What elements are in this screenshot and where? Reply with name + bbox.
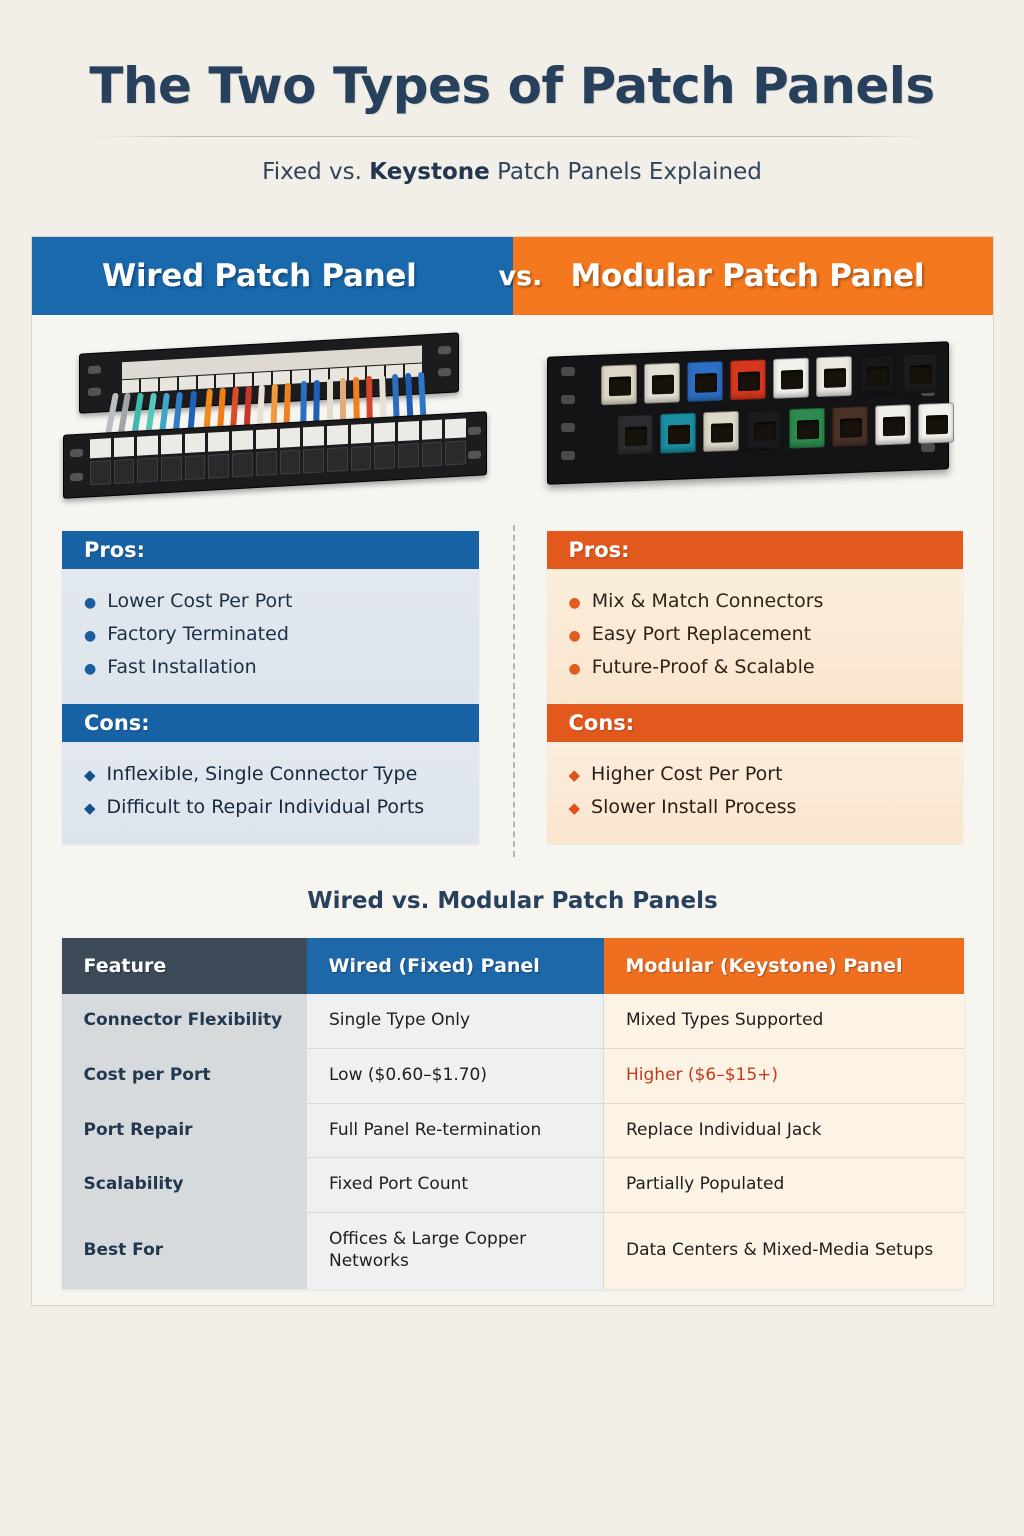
table-title: Wired vs. Modular Patch Panels bbox=[32, 888, 993, 914]
modular-cons-heading: Cons: bbox=[547, 704, 964, 742]
cell-modular: Higher ($6–$15+) bbox=[604, 1048, 964, 1103]
table-row: Cost per Port Low ($0.60–$1.70) Higher (… bbox=[62, 1048, 964, 1103]
subtitle-keyword: Keystone bbox=[369, 159, 489, 185]
list-item: ●Lower Cost Per Port bbox=[84, 585, 457, 618]
list-item: ◆Higher Cost Per Port bbox=[569, 758, 942, 791]
cell-modular: Replace Individual Jack bbox=[604, 1103, 964, 1158]
list-item: ●Factory Terminated bbox=[84, 618, 457, 651]
table-row: Best For Offices & Large Copper Networks… bbox=[62, 1213, 964, 1289]
keystone-jack bbox=[730, 359, 766, 400]
table-row: Scalability Fixed Port Count Partially P… bbox=[62, 1158, 964, 1213]
cell-feature: Port Repair bbox=[62, 1103, 307, 1158]
keystone-jack bbox=[875, 404, 911, 445]
bullet-dot-icon: ● bbox=[569, 662, 581, 676]
table-row: Port Repair Full Panel Re-termination Re… bbox=[62, 1103, 964, 1158]
table-header-modular: Modular (Keystone) Panel bbox=[604, 938, 964, 994]
bullet-diamond-icon: ◆ bbox=[84, 768, 96, 783]
list-item: ●Mix & Match Connectors bbox=[569, 585, 942, 618]
comparison-table: Feature Wired (Fixed) Panel Modular (Key… bbox=[62, 938, 964, 1289]
list-item-label: Future-Proof & Scalable bbox=[592, 658, 815, 677]
list-item: ◆Slower Install Process bbox=[569, 791, 942, 824]
modular-patch-panel-illustration bbox=[539, 337, 959, 507]
list-item-label: Difficult to Repair Individual Ports bbox=[107, 798, 425, 817]
page-header: The Two Types of Patch Panels Fixed vs. … bbox=[0, 0, 1024, 185]
bullet-dot-icon: ● bbox=[569, 629, 581, 643]
list-item: ◆Inflexible, Single Connector Type bbox=[84, 758, 457, 791]
keystone-jack bbox=[902, 353, 938, 394]
table-header-feature: Feature bbox=[62, 938, 307, 994]
keystone-jack bbox=[687, 361, 723, 402]
cell-wired: Offices & Large Copper Networks bbox=[307, 1213, 604, 1289]
bullet-diamond-icon: ◆ bbox=[84, 801, 96, 816]
wired-pros-heading: Pros: bbox=[62, 531, 479, 569]
list-item: ●Easy Port Replacement bbox=[569, 618, 942, 651]
list-item: ●Future-Proof & Scalable bbox=[569, 651, 942, 684]
keystone-jack bbox=[859, 354, 895, 395]
bullet-dot-icon: ● bbox=[84, 662, 96, 676]
table-header-wired: Wired (Fixed) Panel bbox=[307, 938, 604, 994]
bullet-dot-icon: ● bbox=[84, 596, 96, 610]
table-header-row: Feature Wired (Fixed) Panel Modular (Key… bbox=[62, 938, 964, 994]
wired-cons-heading: Cons: bbox=[62, 704, 479, 742]
subtitle-suffix: Patch Panels Explained bbox=[490, 159, 762, 185]
page-subtitle: Fixed vs. Keystone Patch Panels Explaine… bbox=[0, 159, 1024, 185]
list-item-label: Factory Terminated bbox=[107, 625, 289, 644]
keystone-jack bbox=[789, 407, 825, 448]
keystone-jack bbox=[816, 356, 852, 397]
keystone-jack bbox=[601, 364, 637, 405]
wired-cons-box: Cons: ◆Inflexible, Single Connector Type… bbox=[62, 704, 479, 844]
wired-pros-cons-column: Pros: ●Lower Cost Per Port ●Factory Term… bbox=[62, 531, 513, 844]
bullet-diamond-icon: ◆ bbox=[569, 801, 581, 816]
wired-cons-list: ◆Inflexible, Single Connector Type ◆Diff… bbox=[62, 742, 479, 844]
list-item-label: Lower Cost Per Port bbox=[107, 592, 292, 611]
list-item-label: Slower Install Process bbox=[591, 798, 796, 817]
bullet-dot-icon: ● bbox=[84, 629, 96, 643]
wired-patch-panel-illustration bbox=[61, 335, 491, 510]
cell-feature: Cost per Port bbox=[62, 1048, 307, 1103]
wired-panel-image-cell bbox=[40, 329, 513, 515]
cell-feature: Connector Flexibility bbox=[62, 994, 307, 1048]
keystone-jack bbox=[660, 412, 696, 453]
list-item: ●Fast Installation bbox=[84, 651, 457, 684]
modular-cons-box: Cons: ◆Higher Cost Per Port ◆Slower Inst… bbox=[547, 704, 964, 844]
cell-wired: Fixed Port Count bbox=[307, 1158, 604, 1213]
wired-pros-box: Pros: ●Lower Cost Per Port ●Factory Term… bbox=[62, 531, 479, 704]
column-divider bbox=[513, 525, 515, 857]
list-item-label: Mix & Match Connectors bbox=[592, 592, 824, 611]
pros-cons-row: Pros: ●Lower Cost Per Port ●Factory Term… bbox=[32, 515, 993, 844]
banner-wired-label: Wired Patch Panel bbox=[102, 258, 416, 294]
banner-modular-label: Modular Patch Panel bbox=[571, 258, 925, 294]
table-row: Connector Flexibility Single Type Only M… bbox=[62, 994, 964, 1048]
list-item-label: Inflexible, Single Connector Type bbox=[107, 765, 418, 784]
subtitle-prefix: Fixed vs. bbox=[262, 159, 369, 185]
cell-modular: Partially Populated bbox=[604, 1158, 964, 1213]
modular-pros-heading: Pros: bbox=[547, 531, 964, 569]
keystone-jack bbox=[773, 357, 809, 398]
cell-modular: Data Centers & Mixed-Media Setups bbox=[604, 1213, 964, 1289]
modular-panel-image-cell bbox=[513, 329, 986, 515]
list-item: ◆Difficult to Repair Individual Ports bbox=[84, 791, 457, 824]
modular-pros-box: Pros: ●Mix & Match Connectors ●Easy Port… bbox=[547, 531, 964, 704]
list-item-label: Easy Port Replacement bbox=[592, 625, 811, 644]
cell-wired: Low ($0.60–$1.70) bbox=[307, 1048, 604, 1103]
cell-feature: Best For bbox=[62, 1213, 307, 1289]
page-title: The Two Types of Patch Panels bbox=[0, 58, 1024, 114]
keystone-jack bbox=[918, 403, 954, 444]
cell-wired: Full Panel Re-termination bbox=[307, 1103, 604, 1158]
keystone-jack bbox=[746, 409, 782, 450]
modular-pros-cons-column: Pros: ●Mix & Match Connectors ●Easy Port… bbox=[513, 531, 964, 844]
keystone-jack bbox=[617, 414, 653, 455]
wired-pros-list: ●Lower Cost Per Port ●Factory Terminated… bbox=[62, 569, 479, 704]
banner-modular: Modular Patch Panel bbox=[513, 237, 994, 315]
rack-unit-front bbox=[63, 411, 487, 499]
cell-feature: Scalability bbox=[62, 1158, 307, 1213]
list-item-label: Fast Installation bbox=[107, 658, 256, 677]
comparison-banner: Wired Patch Panel vs. Modular Patch Pane… bbox=[32, 237, 993, 315]
cell-modular: Mixed Types Supported bbox=[604, 994, 964, 1048]
bullet-dot-icon: ● bbox=[569, 596, 581, 610]
modular-pros-list: ●Mix & Match Connectors ●Easy Port Repla… bbox=[547, 569, 964, 704]
product-images-row bbox=[32, 315, 993, 515]
keystone-jack bbox=[644, 362, 680, 403]
bullet-diamond-icon: ◆ bbox=[569, 768, 581, 783]
cell-wired: Single Type Only bbox=[307, 994, 604, 1048]
banner-wired: Wired Patch Panel vs. bbox=[32, 237, 513, 315]
keystone-jack bbox=[832, 406, 868, 447]
comparison-card: Wired Patch Panel vs. Modular Patch Pane… bbox=[31, 236, 994, 1306]
modular-cons-list: ◆Higher Cost Per Port ◆Slower Install Pr… bbox=[547, 742, 964, 844]
keystone-jack bbox=[703, 411, 739, 452]
title-divider bbox=[95, 136, 930, 137]
list-item-label: Higher Cost Per Port bbox=[591, 765, 782, 784]
banner-vs-label: vs. bbox=[499, 261, 543, 292]
